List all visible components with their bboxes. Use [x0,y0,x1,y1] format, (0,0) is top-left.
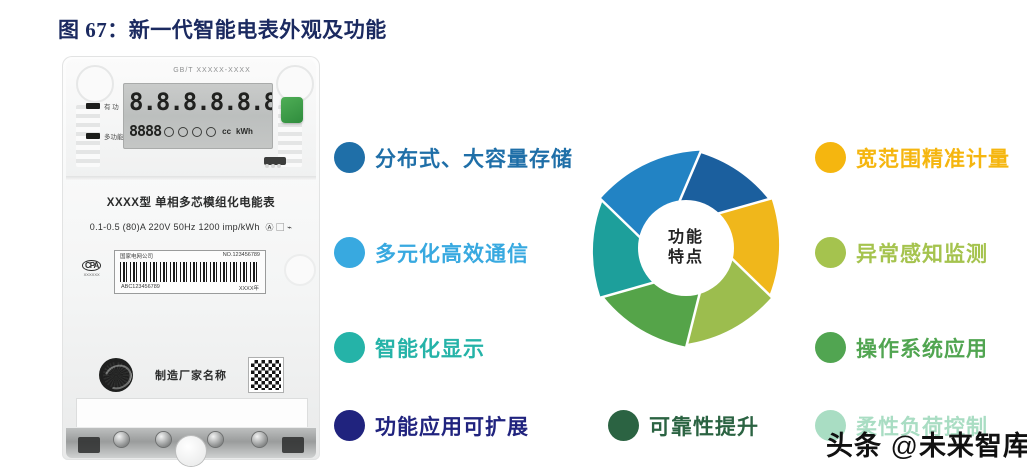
terminal-screw-2 [156,432,171,447]
lcd-sub-digits: 8888 [129,124,161,139]
feature-label-6: 宽范围精准计量 [856,143,1010,173]
page-title: 图 67：新一代智能电表外观及功能 [58,14,387,44]
terminal-screw-3 [208,432,223,447]
lcd-main-digits: 8.8.8.8.8.8.8 [129,90,273,114]
qr-code-icon [249,358,283,392]
terminal-slot-1 [78,437,100,453]
lcd-status-icon-4 [206,127,216,137]
feature-intelligent-display[interactable]: 智能化显示 [334,332,485,363]
feature-label-1: 分布式、大容量存储 [375,143,573,173]
feature-label-7: 异常感知监测 [856,238,988,268]
feature-extensible-applications[interactable]: 功能应用可扩展 [334,410,529,441]
mounting-hole-top-left [76,65,114,103]
barcode-serial: NO.123456789 [223,252,260,260]
watermark-prefix: 头条 [826,431,882,461]
feature-operating-system[interactable]: 操作系统应用 [815,332,988,363]
terminal-screw-4 [252,432,267,447]
feature-label-8: 操作系统应用 [856,333,988,363]
certification-mark: CPA XXXXXX [82,260,101,277]
lcd-unit-label: kWh [236,127,253,136]
cpa-mark-text: CPA [82,260,101,271]
pinwheel-graphic: 功能 特点 [576,138,796,358]
meter-body: GB/T XXXXX-XXXX 8.8.8.8.8.8.8 88 8888 cc… [62,56,320,460]
lcd-secondary-row: 8888 cc kWh [129,124,253,139]
led-icon-multifunction [86,133,100,139]
barcode-owner: 国家电网公司 [120,252,153,260]
watermark-at: @ [891,431,919,461]
state-grid-logo-icon [99,358,133,392]
pinwheel-hub: 功能 特点 [638,200,734,296]
feature-label-5: 可靠性提升 [649,411,759,441]
barcode-code: ABC123456789 [121,284,160,292]
mounting-hole-middle-right [284,254,316,286]
feature-bullet-icon-5 [608,410,639,441]
feature-bullet-icon-3 [334,332,365,363]
lcd-primary-row: 8.8.8.8.8.8.8 88 [129,90,273,114]
feature-bullet-icon-6 [815,142,846,173]
terminal-block [66,428,316,458]
feature-bullet-icon-4 [334,410,365,441]
indicator-active-power: 有 功 [86,101,119,111]
lcd-status-icon-2 [178,127,188,137]
hub-line-1: 功能 [668,228,704,248]
barcode-icon [120,262,260,282]
feature-wide-range-metering[interactable]: 宽范围精准计量 [815,142,1010,173]
smart-meter-photo: GB/T XXXXX-XXXX 8.8.8.8.8.8.8 88 8888 cc… [62,56,320,460]
meter-model-label: XXXX型 单相多芯模组化电能表 [62,194,320,210]
manufacturer-label: 制造厂家名称 [155,367,227,383]
meter-spec-text: 0.1-0.5 (80)A 220V 50Hz 1200 imp/kWh [90,222,260,232]
feature-diagram: 功能 特点 分布式、大容量存储 多元化高效通信 智能化显示 功能应用可扩展 可靠… [330,120,1027,473]
meter-display-button[interactable] [281,97,303,123]
feature-anomaly-monitoring[interactable]: 异常感知监测 [815,237,988,268]
manufacturer-row: 制造厂家名称 [62,358,320,392]
terminal-clip-icon [264,157,286,165]
feature-diverse-communication[interactable]: 多元化高效通信 [334,237,529,268]
feature-label-3: 智能化显示 [375,333,485,363]
meter-display-panel: GB/T XXXXX-XXXX 8.8.8.8.8.8.8 88 8888 cc… [66,59,316,177]
feature-bullet-icon-2 [334,237,365,268]
panel-divider [66,176,316,180]
feature-bullet-icon-1 [334,142,365,173]
terminal-slot-2 [282,437,304,453]
barcode-year: XXXX年 [239,284,259,292]
lcd-status-icon-3 [192,127,202,137]
feature-bullet-icon-8 [815,332,846,363]
watermark-suffix: 未来智库 [919,431,1027,461]
feature-bullet-icon-7 [815,237,846,268]
led-icon-active [86,103,100,109]
lcd-status-icon-1 [164,127,174,137]
meter-spec-label: 0.1-0.5 (80)A 220V 50Hz 1200 imp/kWh Ⓐ ▢… [62,222,320,233]
indicator-multifunction: 多功能 [86,131,124,141]
hub-line-2: 特点 [668,248,704,268]
meter-lower-cover [76,398,308,427]
terminal-screw-1 [114,432,129,447]
feature-distributed-storage[interactable]: 分布式、大容量存储 [334,142,573,173]
feature-label-2: 多元化高效通信 [375,238,529,268]
indicator-label-active: 有 功 [104,101,119,111]
figure-page: 图 67：新一代智能电表外观及功能 GB/T XXXXX-XXXX 8.8.8.… [0,0,1027,473]
standard-mark: GB/T XXXXX-XXXX [152,67,272,74]
barcode-nameplate: 国家电网公司 NO.123456789 ABC123456789 XXXX年 [114,250,266,294]
lcd-symbol: cc [222,127,231,136]
cpa-mark-sub: XXXXXX [82,272,101,277]
feature-reliability-improvement[interactable]: 可靠性提升 [608,410,759,441]
indicator-label-multifunction: 多功能 [104,131,124,141]
lcd-display: 8.8.8.8.8.8.8 88 8888 cc kWh [123,83,273,149]
tamper-seal-icon [176,436,206,466]
feature-label-4: 功能应用可扩展 [375,411,529,441]
watermark: 头条 @未来智库 [826,424,1027,463]
meter-spec-icons: Ⓐ ▢ ⌁ [265,222,292,233]
